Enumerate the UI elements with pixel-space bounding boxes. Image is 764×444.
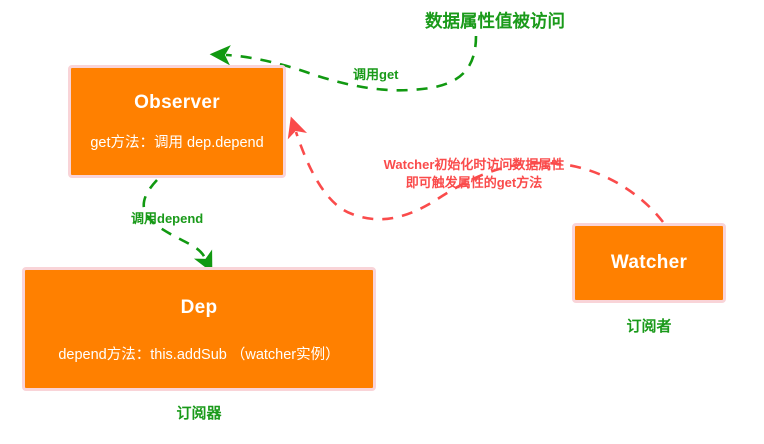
node-observer-subtitle: get方法：调用 dep.depend <box>90 134 263 153</box>
node-dep[interactable]: Dep depend方法：this.addSub （watcher实例） <box>22 267 376 391</box>
edge-label-watcher-init-line1: Watcher初始化时访问数据属性 <box>374 156 574 174</box>
caption-dep: 订阅器 <box>22 402 376 423</box>
diagram-canvas: 数据属性值被访问 调用get 调用depend Watcher初始化时访问数据属… <box>0 0 764 444</box>
node-dep-title: Dep <box>181 297 218 320</box>
node-watcher-title: Watcher <box>611 252 687 275</box>
node-observer-title: Observer <box>134 92 220 115</box>
node-observer[interactable]: Observer get方法：调用 dep.depend <box>68 65 286 178</box>
edge-label-call-depend: 调用depend <box>131 208 203 227</box>
caption-watcher: 订阅者 <box>572 315 726 336</box>
node-watcher[interactable]: Watcher <box>572 223 726 303</box>
edge-label-call-get: 调用get <box>353 64 399 83</box>
heading-data-access: 数据属性值被访问 <box>380 8 610 33</box>
edge-label-watcher-init: Watcher初始化时访问数据属性 即可触发属性的get方法 <box>374 156 574 191</box>
node-dep-subtitle: depend方法：this.addSub （watcher实例） <box>58 346 339 365</box>
edge-label-watcher-init-line2: 即可触发属性的get方法 <box>374 174 574 192</box>
